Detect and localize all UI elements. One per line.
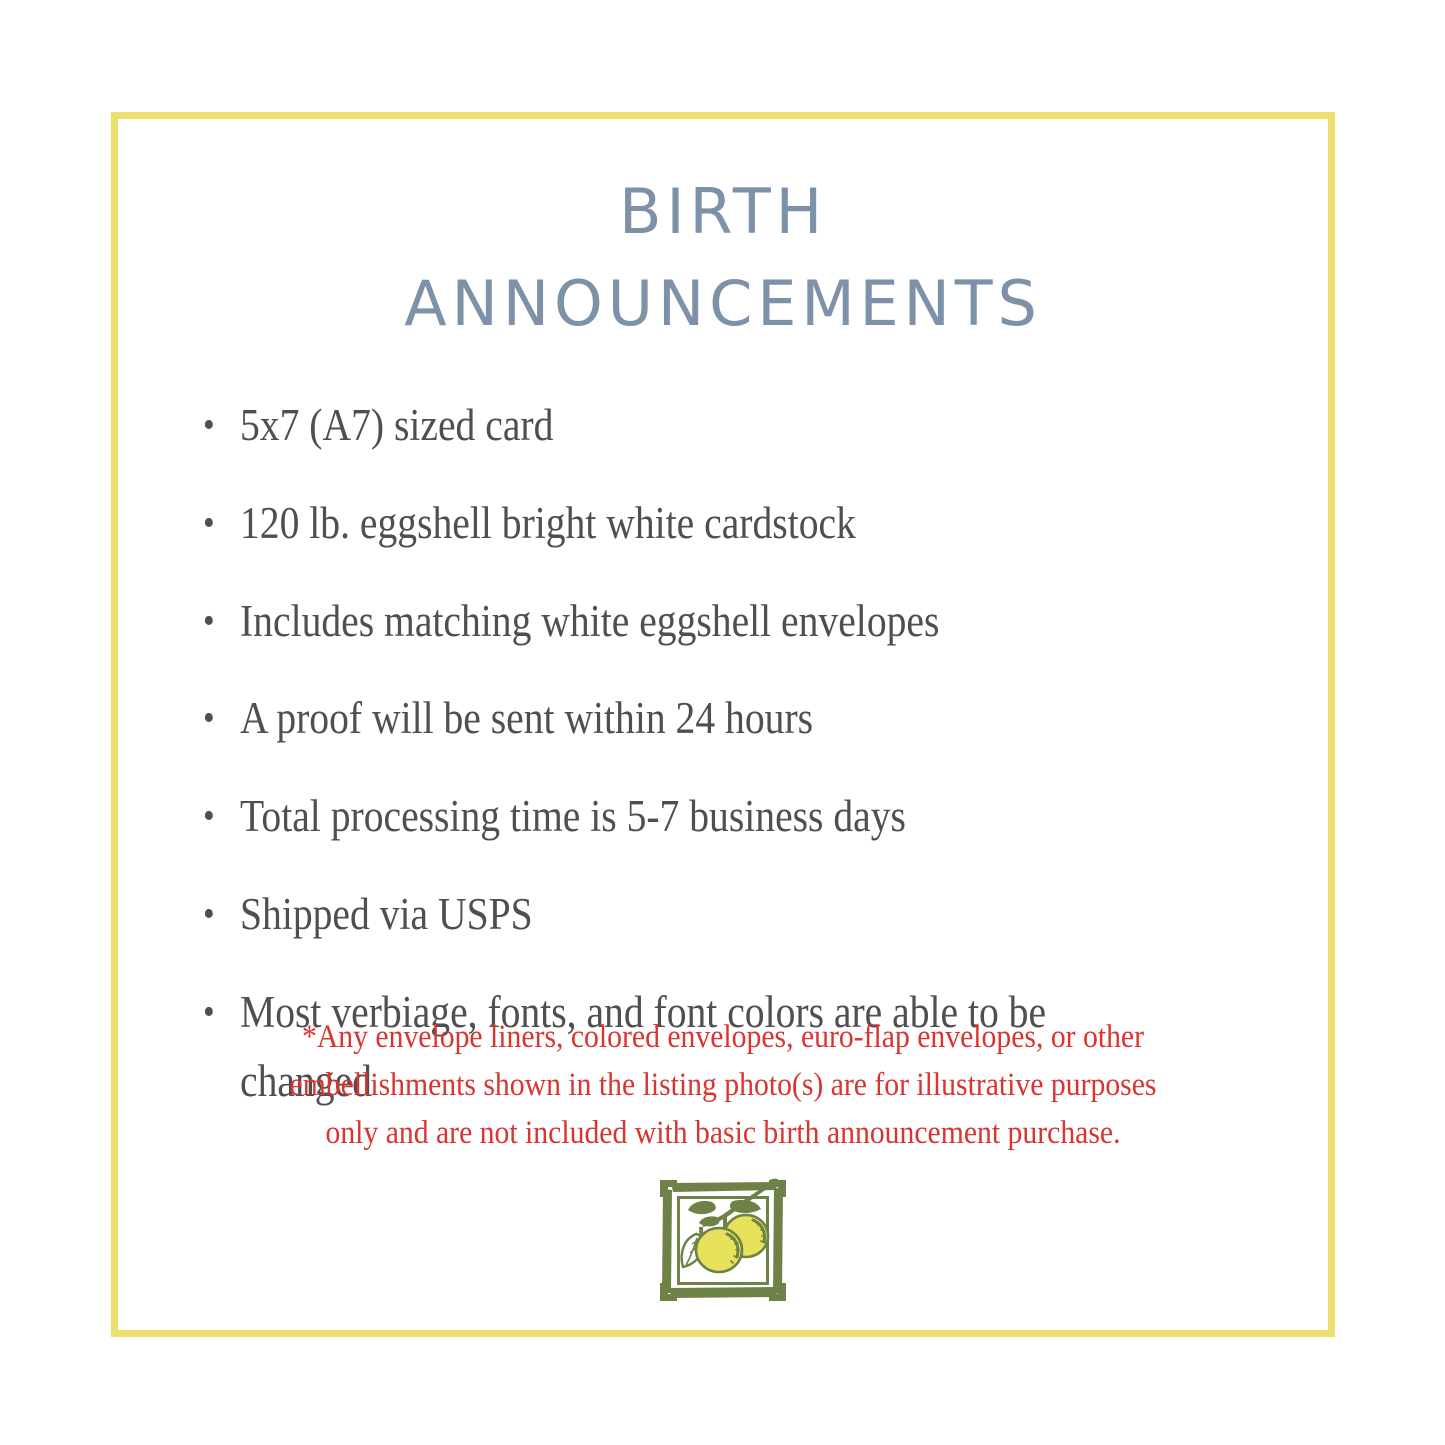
page-title: Birth Announcements [118, 157, 1328, 340]
list-item: A proof will be sent within 24 hours [196, 684, 1166, 754]
card-content: Birth Announcements 5x7 (A7) sized card … [118, 119, 1328, 1330]
disclaimer-line-3: only and are not included with basic bir… [209, 1110, 1237, 1158]
list-item: Shipped via USPS [196, 880, 1166, 950]
title-line-birth: Birth [118, 157, 1328, 249]
disclaimer-text: *Any envelope liners, colored envelopes,… [152, 1014, 1294, 1158]
disclaimer-line-2: embellishments shown in the listing phot… [209, 1062, 1237, 1110]
list-item: Total processing time is 5-7 business da… [196, 782, 1166, 852]
list-item: 5x7 (A7) sized card [196, 391, 1166, 461]
disclaimer-line-1: *Any envelope liners, colored envelopes,… [209, 1014, 1237, 1062]
feature-list: 5x7 (A7) sized card 120 lb. eggshell bri… [196, 391, 1298, 1117]
list-item: 120 lb. eggshell bright white cardstock [196, 489, 1166, 559]
title-line-announcements: Announcements [118, 249, 1328, 341]
lemon-branch-logo-icon [657, 1177, 789, 1305]
yellow-border-frame: Birth Announcements 5x7 (A7) sized card … [111, 112, 1335, 1337]
listing-info-card: Birth Announcements 5x7 (A7) sized card … [0, 0, 1445, 1445]
list-item: Includes matching white eggshell envelop… [196, 587, 1166, 657]
